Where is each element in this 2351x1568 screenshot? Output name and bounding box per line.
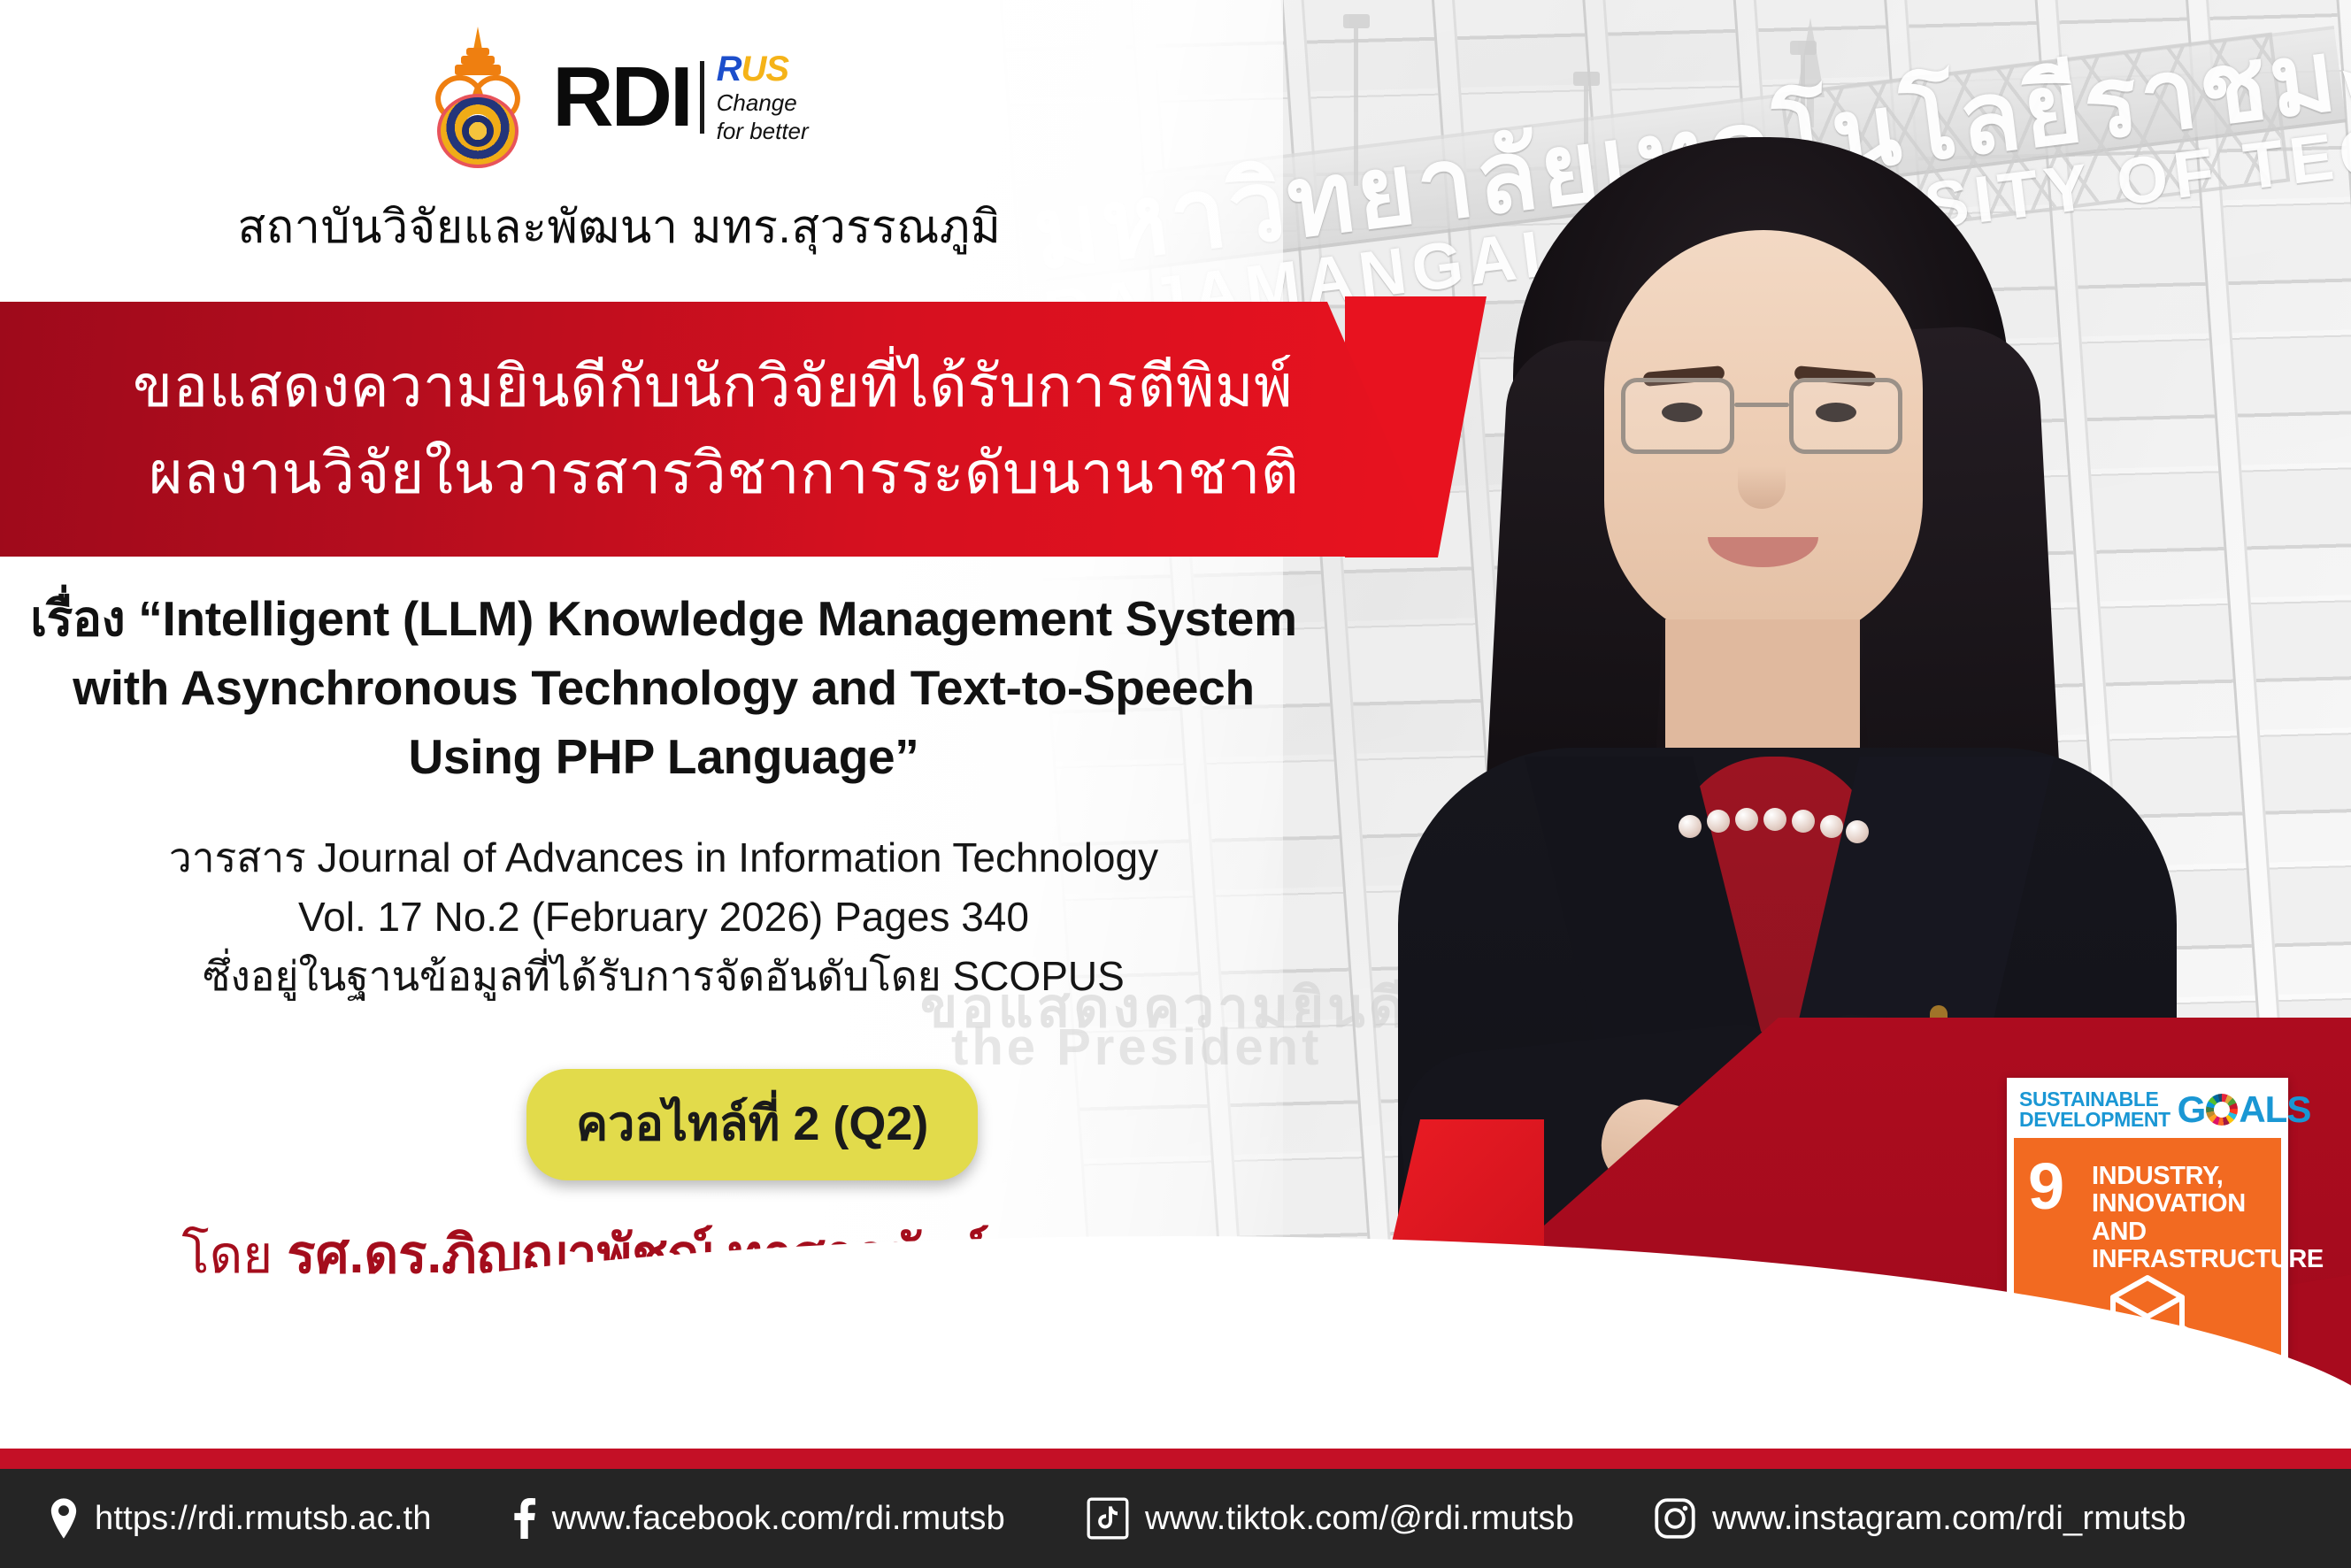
footer-website-label: https://rdi.rmutsb.ac.th <box>95 1500 432 1538</box>
sdg-goal-number: 9 <box>2028 1159 2064 1215</box>
rdi-divider <box>700 61 704 134</box>
rdi-tagline-line1: Change <box>717 91 809 115</box>
footer-instagram-label: www.instagram.com/rdi_rmutsb <box>1712 1500 2186 1538</box>
sdg-color-wheel-icon <box>2206 1094 2238 1126</box>
tiktok-icon <box>1087 1497 1129 1540</box>
sdg-header-line-2: DEVELOPMENT <box>2019 1110 2170 1130</box>
journal-name: วารสาร Journal of Advances in Informatio… <box>0 828 1327 888</box>
organization-name: สถาบันวิจัยและพัฒนา มทร.สุวรรณภูมิ <box>0 189 1239 263</box>
rus-wordmark: RUS <box>717 51 809 87</box>
portrait-eyeglass-bridge <box>1734 403 1789 407</box>
footer-item-tiktok[interactable]: www.tiktok.com/@rdi.rmutsb <box>1087 1497 1574 1540</box>
footer-item-website[interactable]: https://rdi.rmutsb.ac.th <box>49 1498 432 1539</box>
author-by-label: โดย <box>181 1226 287 1284</box>
rus-letter-r: R <box>717 50 741 88</box>
location-pin-icon <box>49 1498 79 1539</box>
portrait-nose <box>1738 438 1786 509</box>
portrait-eyeglass-right <box>1789 378 1902 454</box>
footer-item-instagram[interactable]: www.instagram.com/rdi_rmutsb <box>1654 1497 2186 1540</box>
rdi-sublogo: RUS Change for better <box>717 51 809 144</box>
rus-letters-us: US <box>741 50 789 88</box>
journal-index-note: ซึ่งอยู่ในฐานข้อมูลที่ได้รับการจัดอันดับ… <box>0 947 1327 1006</box>
article-title-line-3: Using PHP Language” <box>0 722 1327 791</box>
sdg-goals-letters-als: ALS <box>2239 1088 2310 1131</box>
rdi-tagline-line2: for better <box>717 119 809 143</box>
rdi-wordmark: RDI <box>552 59 690 135</box>
banner-line-1: ขอแสดงความยินดีกับนักวิจัยที่ได้รับการตี… <box>133 350 1438 423</box>
background-light-pole <box>1354 27 1358 186</box>
sdg-header-line-1: SUSTAINABLE <box>2019 1089 2170 1110</box>
instagram-icon <box>1654 1497 1696 1540</box>
journal-volume-pages: Vol. 17 No.2 (February 2026) Pages 340 <box>0 888 1327 947</box>
portrait-eyeglass-left <box>1621 378 1734 454</box>
article-title-line-2: with Asynchronous Technology and Text-to… <box>0 653 1327 722</box>
sdg-goal-title: INDUSTRY, INNOVATION AND INFRASTRUCTURE <box>2092 1163 2324 1273</box>
publication-congratulation-poster: มหาวิทยาลัยเทคโนโลยีราชมงคลสุวรรณภูมิ RA… <box>0 0 2351 1568</box>
sdg-goal-title-line-2: AND INFRASTRUCTURE <box>2092 1218 2324 1274</box>
banner-line-2: ผลงานวิจัยในวารสารวิชาการระดับนานาชาติ <box>149 436 1438 510</box>
rdi-logo: RDI RUS Change for better <box>552 51 808 144</box>
sdg-goals-wordmark: G ALS <box>2178 1088 2311 1131</box>
rmutsb-seal-icon <box>430 27 526 168</box>
quartile-badge: ควอไทล์ที่ 2 (Q2) <box>526 1069 978 1180</box>
logo-row: RDI RUS Change for better <box>0 27 1239 168</box>
sdg-header-text: SUSTAINABLE DEVELOPMENT <box>2019 1089 2170 1130</box>
congratulation-banner: ขอแสดงความยินดีกับนักวิจัยที่ได้รับการตี… <box>0 302 1438 557</box>
footer-item-facebook[interactable]: www.facebook.com/rdi.rmutsb <box>513 1498 1005 1539</box>
portrait-pearl-necklace <box>1679 808 1869 834</box>
footer-tiktok-label: www.tiktok.com/@rdi.rmutsb <box>1145 1500 1574 1538</box>
footer-bar: https://rdi.rmutsb.ac.th www.facebook.co… <box>0 1469 2351 1568</box>
article-content: เรื่อง “Intelligent (LLM) Knowledge Mana… <box>0 584 1327 1005</box>
article-title-line-1: เรื่อง “Intelligent (LLM) Knowledge Mana… <box>0 584 1327 653</box>
footer-facebook-label: www.facebook.com/rdi.rmutsb <box>552 1500 1005 1538</box>
poster-header: RDI RUS Change for better สถาบันวิจัยและ… <box>0 27 1239 263</box>
sdg-goals-letter-g: G <box>2178 1088 2206 1131</box>
sdg-goal-title-line-1: INDUSTRY, INNOVATION <box>2092 1163 2324 1218</box>
journal-info: วารสาร Journal of Advances in Informatio… <box>0 828 1327 1005</box>
watermark-president-english: the President <box>951 1018 1322 1077</box>
facebook-icon <box>513 1498 536 1539</box>
sdg-header: SUSTAINABLE DEVELOPMENT G ALS <box>2014 1085 2281 1138</box>
